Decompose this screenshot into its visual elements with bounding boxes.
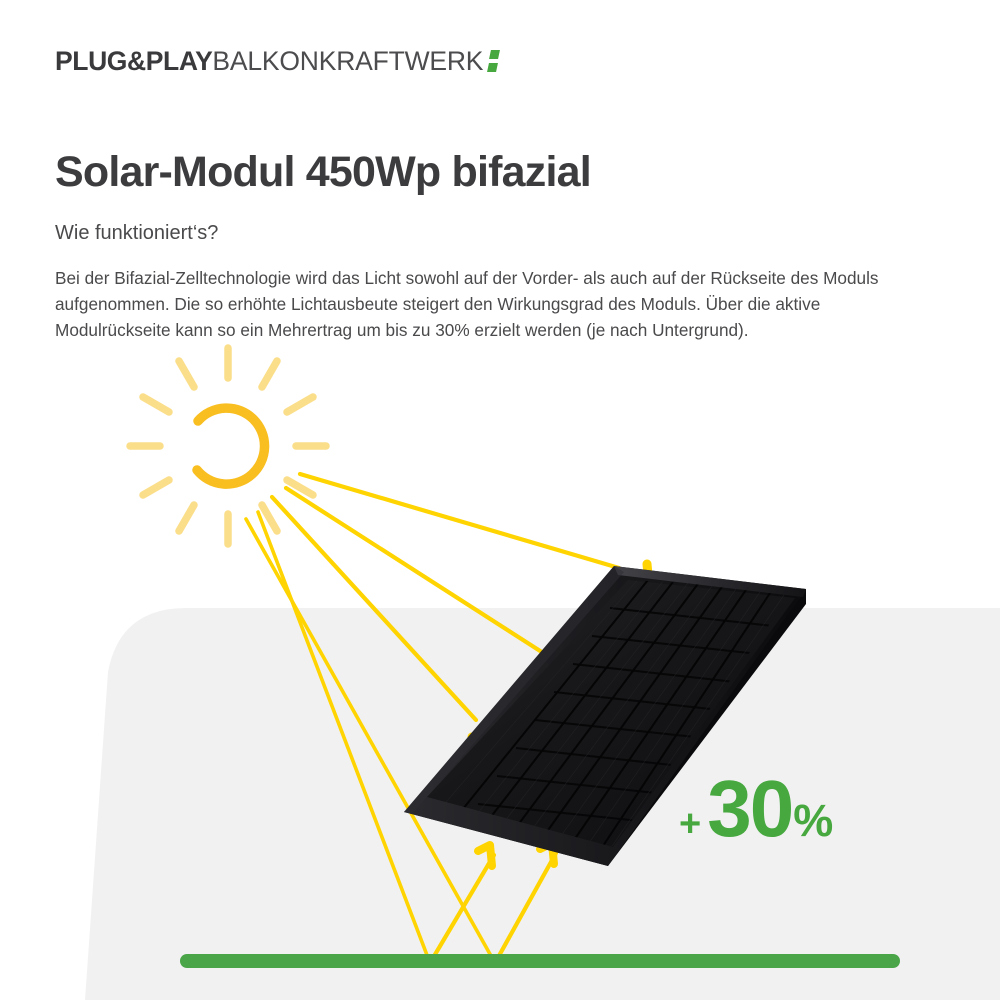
- sun-icon: [130, 348, 326, 544]
- logo-accent-icon: [487, 48, 503, 74]
- gain-value: 30: [707, 769, 792, 849]
- paragraph-text: Bei der Bifazial-Zelltechnologie wird da…: [55, 265, 935, 343]
- logo-text-bold: PLUG&PLAY: [55, 48, 212, 75]
- section-subtitle: Wie funktioniert‘s?: [55, 221, 218, 245]
- reflected-arrowheads: [478, 843, 554, 866]
- ground-line: [180, 954, 900, 968]
- incident-light-rays: [272, 474, 619, 720]
- reflected-light-rays: [430, 853, 556, 963]
- page-title: Solar-Modul 450Wp bifazial: [55, 149, 591, 196]
- gain-badge: + 30 %: [679, 769, 832, 849]
- infographic-canvas: PLUG&PLAY BALKONKRAFTWERK Solar-Modul 45…: [0, 0, 1000, 1000]
- incident-arrowheads: [472, 564, 650, 748]
- logo-text-light: BALKONKRAFTWERK: [212, 48, 483, 75]
- body-paragraph: Bei der Bifazial-Zelltechnologie wird da…: [55, 265, 935, 343]
- transmitted-light-rays: [246, 512, 495, 963]
- brand-logo: PLUG&PLAY BALKONKRAFTWERK: [55, 48, 503, 75]
- gain-plus-sign: +: [679, 805, 701, 843]
- gain-unit: %: [793, 798, 832, 843]
